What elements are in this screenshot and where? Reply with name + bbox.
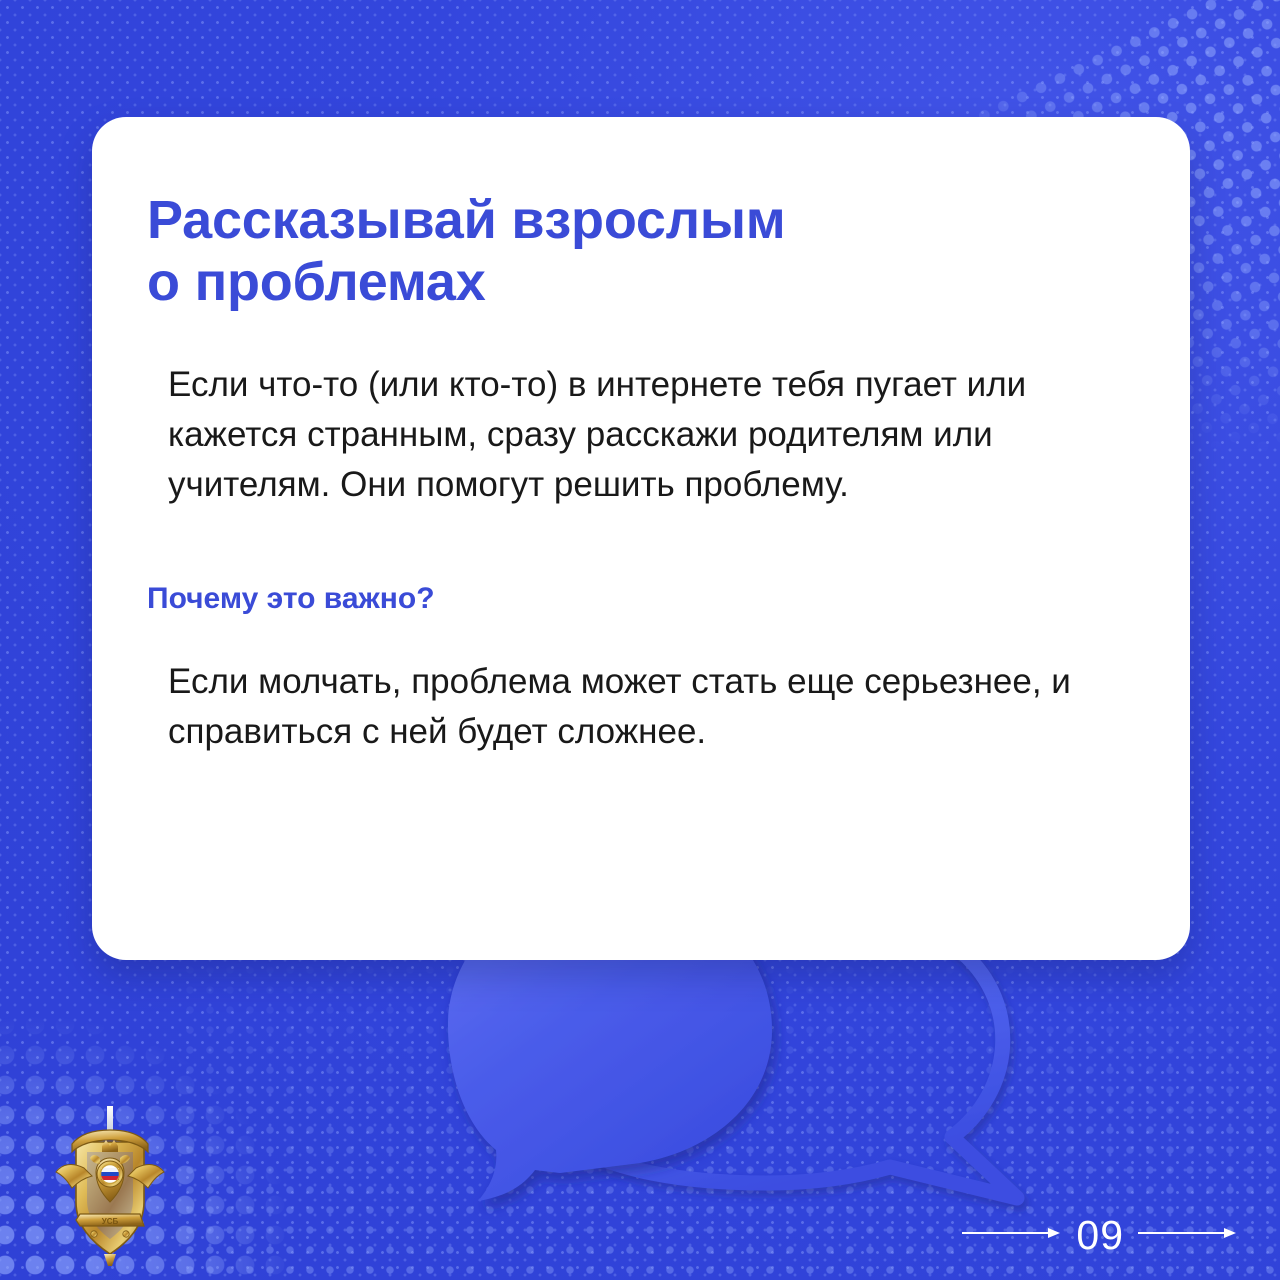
halftone-bottom-left	[0, 950, 350, 1280]
why-important-heading: Почему это важно?	[147, 581, 1140, 617]
card-content: Рассказывай взрослым о проблемах Если чт…	[147, 189, 1140, 757]
lead-paragraph: Если что-то (или кто-то) в интернете теб…	[168, 360, 1140, 509]
emblem-banner-text: УСБ	[102, 1217, 119, 1226]
content-card: Рассказывай взрослым о проблемах Если чт…	[92, 117, 1190, 960]
arrow-right-icon-left	[962, 1226, 1062, 1245]
fsb-emblem: УСБ	[54, 1106, 166, 1266]
slide-canvas: Рассказывай взрослым о проблемах Если чт…	[0, 0, 1280, 1280]
arrow-right-icon-right	[1138, 1226, 1238, 1245]
why-important-paragraph: Если молчать, проблема может стать еще с…	[168, 657, 1128, 756]
page-number: 09	[1076, 1215, 1124, 1256]
page-indicator: 09	[962, 1208, 1238, 1262]
page-title: Рассказывай взрослым о проблемах	[147, 189, 1140, 313]
